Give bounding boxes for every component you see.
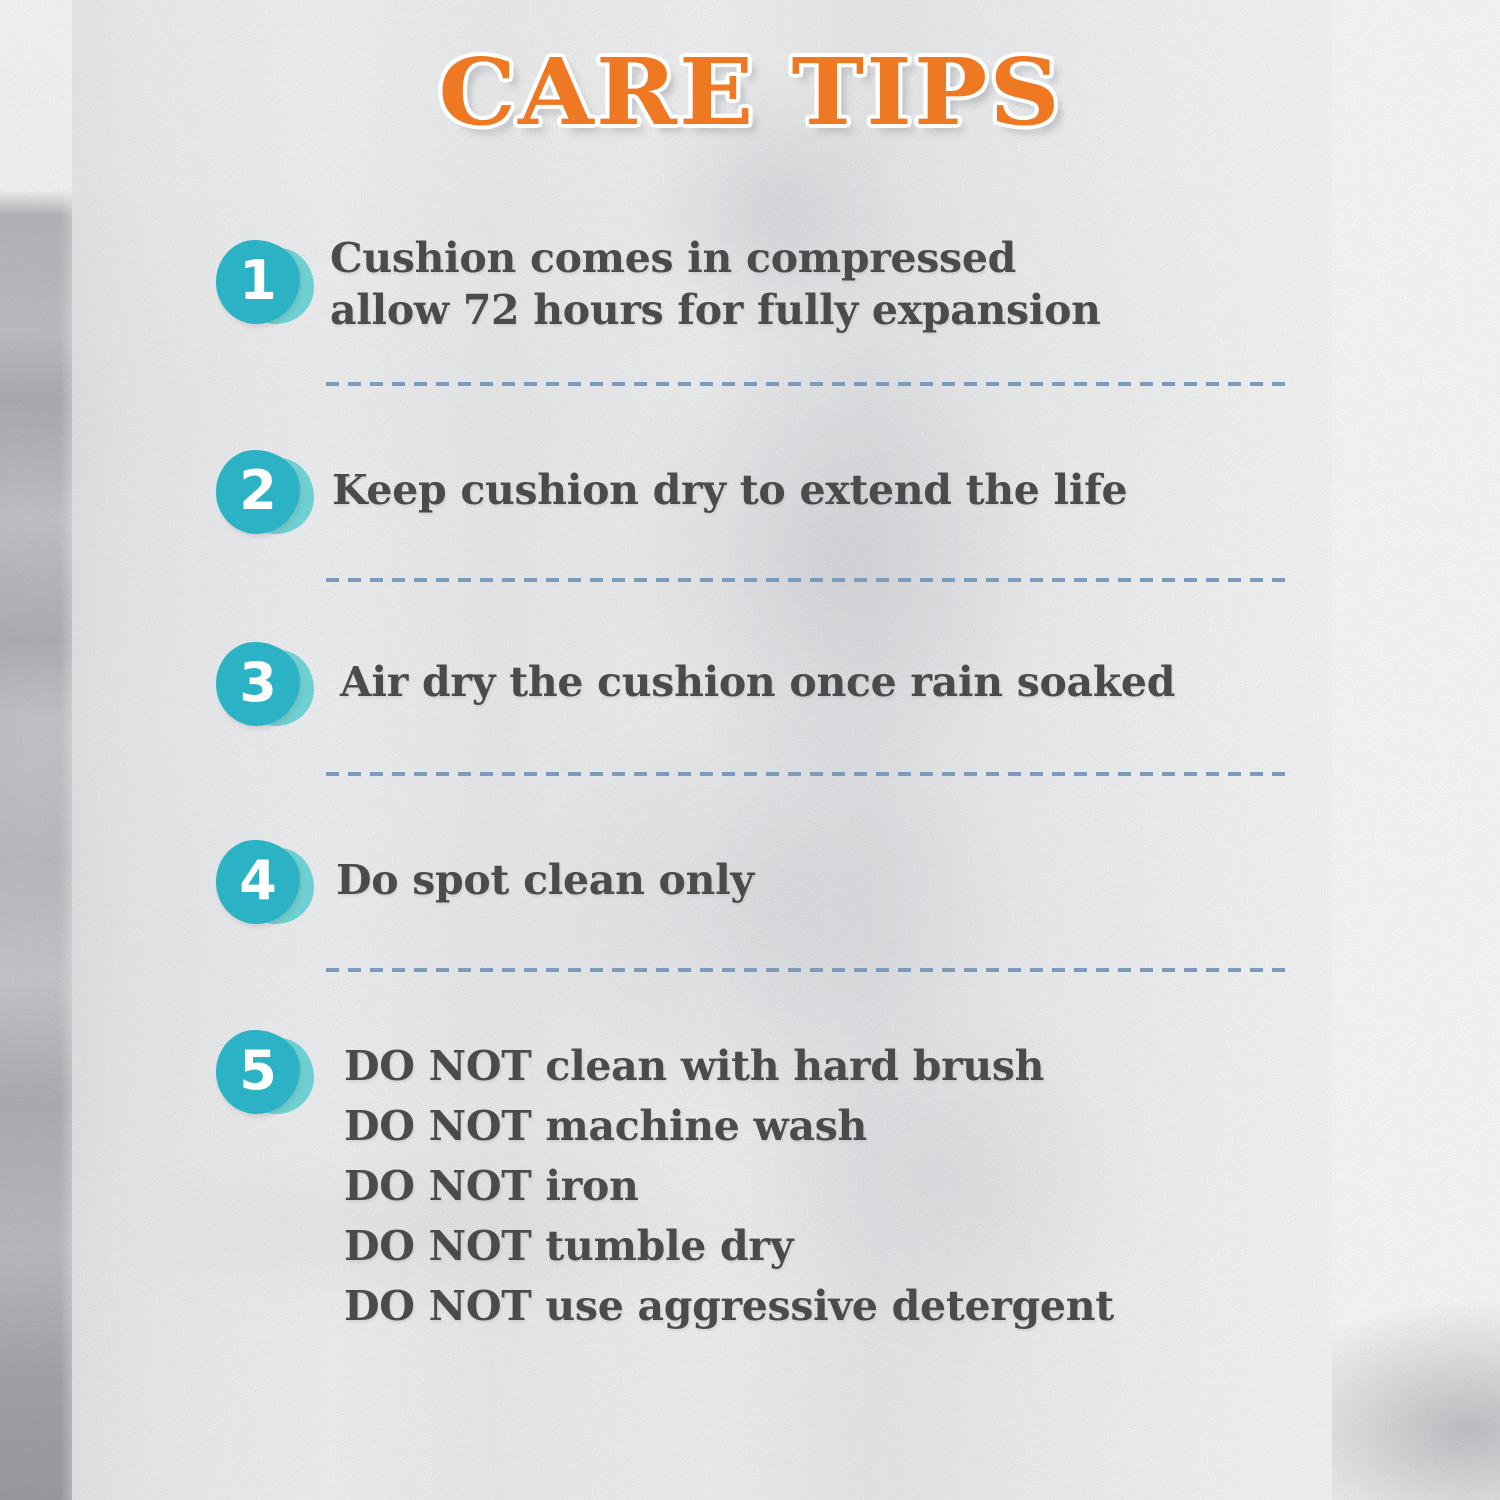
tip-divider-1	[326, 382, 1286, 386]
tip-number-3: 3	[216, 642, 300, 726]
tip-number-badge-2: 2	[216, 450, 300, 534]
tip-number-badge-4: 4	[216, 840, 300, 924]
tip-number-2: 2	[216, 450, 300, 534]
tip-text-2: Keep cushion dry to extend the life	[332, 464, 1332, 516]
tip-number-badge-1: 1	[216, 240, 300, 324]
tip-text-5: DO NOT clean with hard brush DO NOT mach…	[344, 1036, 1394, 1336]
tip-divider-2	[326, 578, 1286, 582]
tip-text-3: Air dry the cushion once rain soaked	[340, 656, 1340, 708]
tip-divider-3	[326, 772, 1286, 776]
tip-divider-4	[326, 968, 1286, 972]
tip-number-5: 5	[216, 1030, 300, 1114]
tips-list: 1 Cushion comes in compressed allow 72 h…	[0, 0, 1500, 1500]
tip-text-1: Cushion comes in compressed allow 72 hou…	[330, 232, 1330, 336]
tip-text-4: Do spot clean only	[336, 854, 1336, 906]
tip-number-1: 1	[216, 240, 300, 324]
care-tips-infographic: CARE TIPS 1 Cushion comes in compressed …	[0, 0, 1500, 1500]
tip-number-badge-3: 3	[216, 642, 300, 726]
tip-number-4: 4	[216, 840, 300, 924]
tip-number-badge-5: 5	[216, 1030, 300, 1114]
